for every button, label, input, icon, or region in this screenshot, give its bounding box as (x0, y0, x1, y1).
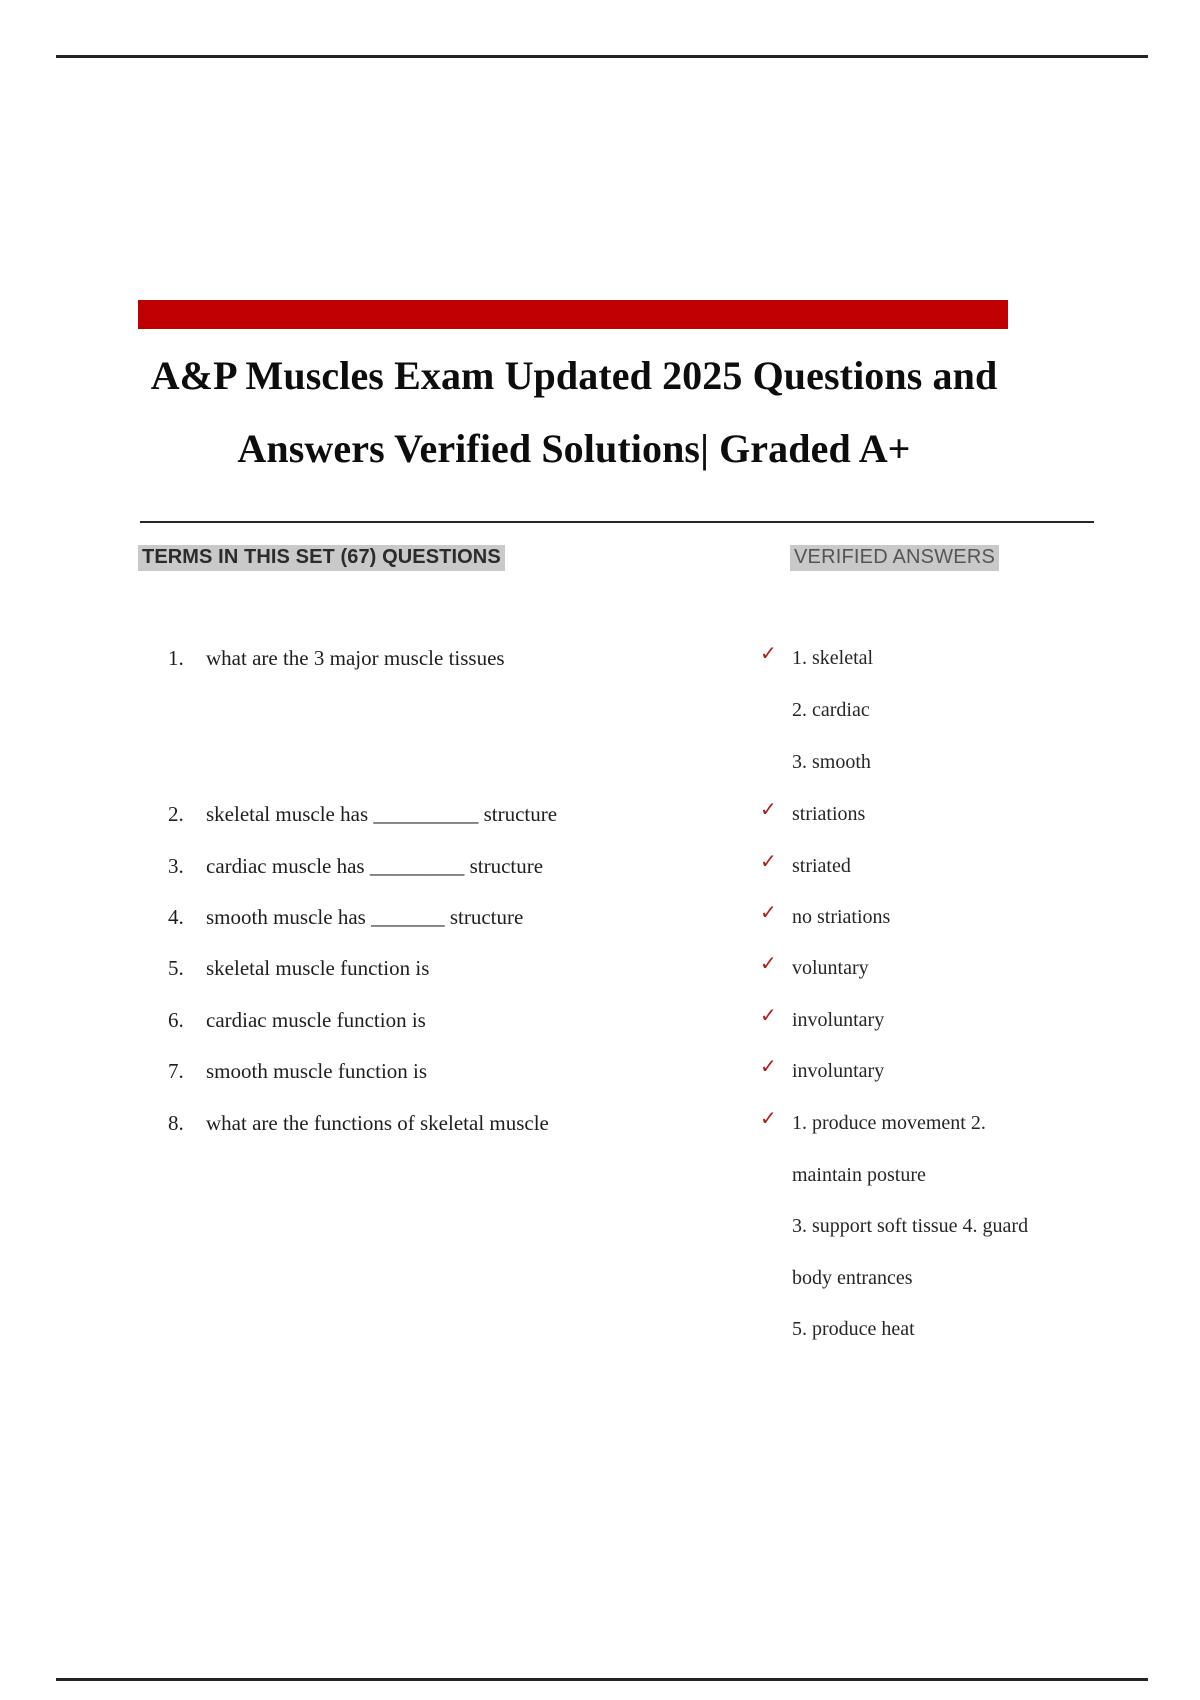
answer-text: striated (792, 854, 851, 878)
question-text: skeletal muscle has __________ structure (206, 802, 557, 827)
column-headers: TERMS IN THIS SET (67) QUESTIONS VERIFIE… (0, 540, 1200, 580)
page-top-rule (56, 55, 1148, 58)
questions-column-header: TERMS IN THIS SET (67) QUESTIONS (138, 545, 505, 571)
question-item: 8.what are the functions of skeletal mus… (138, 1111, 549, 1136)
question-item: 4.smooth muscle has _______ structure (138, 905, 523, 930)
question-text: cardiac muscle has _________ structure (206, 854, 543, 879)
check-icon: ✓ (760, 903, 782, 923)
answer-item: ✓striated (760, 854, 851, 878)
answer-text: 1. produce movement 2. (792, 1111, 986, 1135)
answer-text: involuntary (792, 1059, 884, 1083)
answer-text: 3. smooth (792, 750, 871, 774)
answer-item: 3. smooth (760, 750, 871, 774)
question-number: 7. (168, 1059, 202, 1084)
answer-text: involuntary (792, 1008, 884, 1032)
question-text: cardiac muscle function is (206, 1008, 426, 1033)
answer-text: maintain posture (792, 1163, 926, 1187)
title-block: A&P Muscles Exam Updated 2025 Questions … (138, 340, 1010, 486)
question-text: what are the functions of skeletal muscl… (206, 1111, 549, 1136)
question-number: 1. (168, 646, 202, 671)
answer-item: ✓striations (760, 802, 865, 826)
answer-item: ✓involuntary (760, 1059, 884, 1083)
question-number: 2. (168, 802, 202, 827)
check-icon: ✓ (760, 954, 782, 974)
check-icon: ✓ (760, 644, 782, 664)
question-number: 3. (168, 854, 202, 879)
answer-item: ✓1. skeletal (760, 646, 873, 670)
question-text: what are the 3 major muscle tissues (206, 646, 505, 671)
check-icon: ✓ (760, 852, 782, 872)
check-icon: ✓ (760, 800, 782, 820)
question-item: 1.what are the 3 major muscle tissues (138, 646, 505, 671)
question-text: smooth muscle has _______ structure (206, 905, 523, 930)
answer-item: body entrances (760, 1266, 913, 1290)
question-item: 5.skeletal muscle function is (138, 956, 429, 981)
question-item: 2.skeletal muscle has __________ structu… (138, 802, 557, 827)
question-number: 5. (168, 956, 202, 981)
answer-text: 5. produce heat (792, 1317, 915, 1341)
answer-text: striations (792, 802, 865, 826)
answer-text: 1. skeletal (792, 646, 873, 670)
answer-item: ✓involuntary (760, 1008, 884, 1032)
page-title: A&P Muscles Exam Updated 2025 Questions … (138, 340, 1010, 486)
question-item: 7.smooth muscle function is (138, 1059, 427, 1084)
answer-item: maintain posture (760, 1163, 926, 1187)
red-banner-bar (138, 300, 1008, 329)
question-number: 4. (168, 905, 202, 930)
answer-item: 5. produce heat (760, 1317, 915, 1341)
check-icon: ✓ (760, 1109, 782, 1129)
question-item: 6.cardiac muscle function is (138, 1008, 426, 1033)
answer-text: no striations (792, 905, 890, 929)
answers-column-header: VERIFIED ANSWERS (790, 545, 999, 571)
answer-text: voluntary (792, 956, 869, 980)
question-item: 3.cardiac muscle has _________ structure (138, 854, 543, 879)
answer-text: 2. cardiac (792, 698, 870, 722)
page-bottom-rule (56, 1678, 1148, 1681)
body-area: TERMS IN THIS SET (67) QUESTIONS VERIFIE… (0, 540, 1200, 580)
answer-text: 3. support soft tissue 4. guard (792, 1214, 1028, 1238)
question-number: 8. (168, 1111, 202, 1136)
check-icon: ✓ (760, 1006, 782, 1026)
question-text: skeletal muscle function is (206, 956, 429, 981)
question-number: 6. (168, 1008, 202, 1033)
answer-item: 3. support soft tissue 4. guard (760, 1214, 1028, 1238)
answer-item: ✓voluntary (760, 956, 869, 980)
title-underline-rule (140, 521, 1094, 523)
question-text: smooth muscle function is (206, 1059, 427, 1084)
answer-item: ✓1. produce movement 2. (760, 1111, 986, 1135)
document-page: A&P Muscles Exam Updated 2025 Questions … (0, 0, 1200, 1700)
answer-text: body entrances (792, 1266, 913, 1290)
answer-item: ✓no striations (760, 905, 890, 929)
answer-item: 2. cardiac (760, 698, 870, 722)
check-icon: ✓ (760, 1057, 782, 1077)
